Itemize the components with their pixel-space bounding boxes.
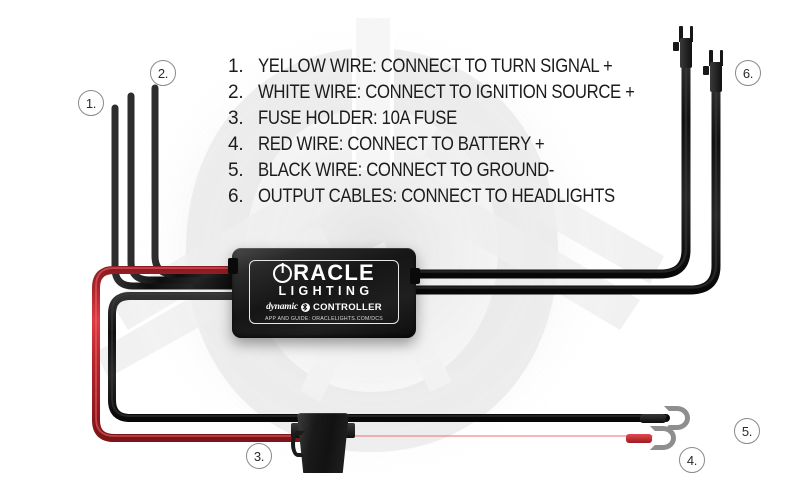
module-brand-primary: RACLE xyxy=(273,262,375,284)
module-model-line: dynamic CONTROLLER xyxy=(266,302,382,313)
callout-marker-3: 3. xyxy=(246,443,272,469)
legend-text-6: OUTPUT CABLES: CONNECT TO HEADLIGHTS xyxy=(258,184,615,210)
module-notch-left xyxy=(228,258,238,274)
battery-wire-ferrule xyxy=(626,434,652,443)
controller-module: RACLE LIGHTING dynamic CONTROLLER APP AN… xyxy=(232,248,416,338)
wiring-diagram: RACLE LIGHTING dynamic CONTROLLER APP AN… xyxy=(0,0,800,500)
output-connector-b xyxy=(707,50,724,94)
bluetooth-icon xyxy=(301,303,310,312)
legend-number-3: 3. xyxy=(228,106,258,132)
callout-marker-5: 5. xyxy=(734,418,760,444)
legend-text-2: WHITE WIRE: CONNECT TO IGNITION SOURCE + xyxy=(258,80,635,106)
output-connector-b-body xyxy=(710,62,722,92)
legend-number-1: 1. xyxy=(228,54,258,80)
legend-number-6: 6. xyxy=(228,184,258,210)
module-label-plate: RACLE LIGHTING dynamic CONTROLLER APP AN… xyxy=(249,260,399,324)
module-brand-text: RACLE xyxy=(293,262,375,284)
module-app-url: APP AND GUIDE: ORACLELIGHTS.COM/DCS xyxy=(265,316,383,322)
output-connector-a-tab xyxy=(673,42,679,51)
legend-item-6: 6. OUTPUT CABLES: CONNECT TO HEADLIGHTS xyxy=(228,184,638,210)
legend-text-5: BLACK WIRE: CONNECT TO GROUND- xyxy=(258,158,554,184)
callout-marker-2: 2. xyxy=(150,60,176,86)
legend-item-5: 5. BLACK WIRE: CONNECT TO GROUND- xyxy=(228,158,638,184)
legend-text-4: RED WIRE: CONNECT TO BATTERY + xyxy=(258,132,544,158)
module-brand-secondary: LIGHTING xyxy=(279,285,374,299)
callout-marker-6: 6. xyxy=(735,60,761,86)
legend-number-4: 4. xyxy=(228,132,258,158)
battery-spade-terminal xyxy=(650,426,676,450)
module-controller-text: CONTROLLER xyxy=(313,302,382,313)
callout-marker-1: 1. xyxy=(78,90,104,116)
power-symbol-icon xyxy=(273,264,292,283)
fuse-cap-tether xyxy=(291,431,305,457)
legend-item-4: 4. RED WIRE: CONNECT TO BATTERY + xyxy=(228,132,638,158)
legend-number-5: 5. xyxy=(228,158,258,184)
legend-number-2: 2. xyxy=(228,80,258,106)
module-notch-right xyxy=(410,268,420,284)
output-connector-a xyxy=(677,26,694,70)
legend-text-1: YELLOW WIRE: CONNECT TO TURN SIGNAL + xyxy=(258,54,612,80)
legend-item-3: 3. FUSE HOLDER: 10A FUSE xyxy=(228,106,638,132)
legend-item-1: 1. YELLOW WIRE: CONNECT TO TURN SIGNAL + xyxy=(228,54,638,80)
legend-item-2: 2. WHITE WIRE: CONNECT TO IGNITION SOURC… xyxy=(228,80,638,106)
fuse-holder xyxy=(291,413,355,475)
legend-text-3: FUSE HOLDER: 10A FUSE xyxy=(258,106,457,132)
module-dynamic-text: dynamic xyxy=(266,302,298,312)
output-connector-b-tab xyxy=(703,66,709,75)
ground-wire-ferrule xyxy=(640,414,666,423)
output-connector-a-body xyxy=(680,38,692,68)
bluetooth-glyph xyxy=(302,303,308,311)
callout-marker-4: 4. xyxy=(679,447,705,473)
legend-list: 1. YELLOW WIRE: CONNECT TO TURN SIGNAL +… xyxy=(228,54,638,210)
